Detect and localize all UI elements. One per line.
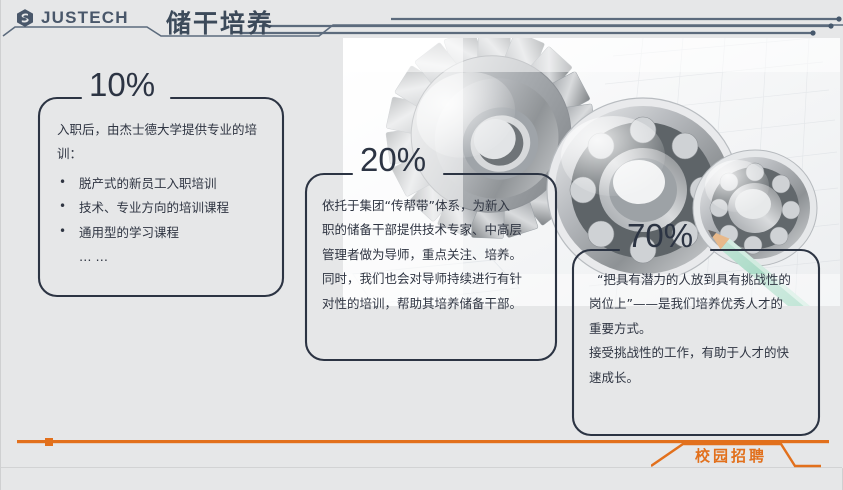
campus-recruitment-badge[interactable]: 校园招聘 xyxy=(651,442,821,470)
info-card-70: 70% “把具有潜力的人放到具有挑战性的 岗位上”——是我们培养优秀人才的 重要… xyxy=(571,248,821,437)
card-percent-20: 20% xyxy=(360,143,426,176)
justech-hex-logo-icon xyxy=(15,8,35,28)
page-bottom-strip xyxy=(1,467,842,490)
list-item: 通用型的学习课程 xyxy=(57,221,277,245)
badge-label: 校园招聘 xyxy=(695,445,767,466)
list-item: 脱产式的新员工入职培训 xyxy=(57,172,277,196)
card-percent-70: 70% xyxy=(627,219,693,252)
card-intro-70: “把具有潜力的人放到具有挑战性的 岗位上”——是我们培养优秀人才的 重要方式。 … xyxy=(589,268,809,390)
info-card-10: 10% 入职后，由杰士德大学提供专业的培 训： 脱产式的新员工入职培训 技术、专… xyxy=(37,96,285,298)
list-item: 技术、专业方向的培训课程 xyxy=(57,196,277,220)
card-intro-10: 入职后，由杰士德大学提供专业的培 训： xyxy=(57,118,271,167)
brand-logo[interactable]: JUSTECH xyxy=(15,8,129,28)
footer-rule-end-dot xyxy=(45,438,53,446)
card-percent-10: 10% xyxy=(89,68,155,101)
list-item: … … xyxy=(57,245,277,269)
slide-header: JUSTECH 储干培养 xyxy=(1,0,843,40)
info-card-20: 20% 依托于集团“传帮带”体系，为新入 职的储备干部提供技术专家、中高层 管理… xyxy=(304,172,558,362)
slide-canvas: JUSTECH 储干培养 xyxy=(0,0,843,490)
card-bullets-10: 脱产式的新员工入职培训 技术、专业方向的培训课程 通用型的学习课程 … … xyxy=(57,172,277,270)
page-title: 储干培养 xyxy=(166,4,274,40)
brand-logo-text: JUSTECH xyxy=(41,8,129,28)
card-intro-20: 依托于集团“传帮带”体系，为新入 职的储备干部提供技术专家、中高层 管理者做为导… xyxy=(322,194,544,316)
